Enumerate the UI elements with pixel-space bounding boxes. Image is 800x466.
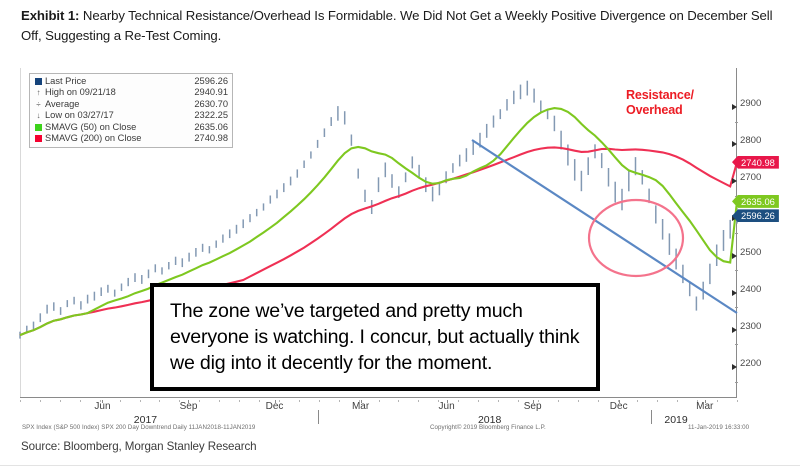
legend-value: 2940.91 bbox=[180, 87, 228, 98]
x-axis-minor-tick bbox=[339, 400, 340, 402]
x-axis-minor-tick bbox=[259, 400, 260, 402]
x-axis-minor-tick bbox=[379, 400, 380, 402]
source-line: Source: Bloomberg, Morgan Stanley Resear… bbox=[21, 440, 257, 453]
x-axis-minor-tick bbox=[299, 400, 300, 402]
x-axis-minor-tick bbox=[438, 400, 439, 402]
legend-label: Last Price bbox=[45, 76, 180, 87]
legend-value: 2322.25 bbox=[180, 110, 228, 121]
x-axis-year-label: 2018 bbox=[478, 414, 501, 426]
x-axis-minor-tick bbox=[418, 400, 419, 402]
x-axis-minor-tick bbox=[179, 400, 180, 402]
legend-row: ↑ High on 09/21/18 2940.91 bbox=[32, 87, 228, 98]
x-axis-year-label: 2019 bbox=[664, 414, 687, 426]
x-axis-month-label: Dec bbox=[610, 401, 628, 412]
legend-label: High on 09/21/18 bbox=[45, 87, 180, 98]
x-axis-minor-tick bbox=[60, 400, 61, 402]
x-axis-month-label: Mar bbox=[696, 401, 713, 412]
x-axis-month-label: Mar bbox=[352, 401, 369, 412]
resistance-annotation: Resistance/ Overhead bbox=[626, 88, 694, 118]
x-axis-minor-tick bbox=[618, 400, 619, 402]
last-price-flag: 2596.26 bbox=[732, 209, 779, 222]
x-axis-minor-tick bbox=[458, 400, 459, 402]
legend-row: Last Price 2596.26 bbox=[32, 76, 228, 87]
up-arrow-icon: ↑ bbox=[32, 87, 45, 98]
legend-row: SMAVG (200) on Close 2740.98 bbox=[32, 133, 228, 144]
y-axis-minor-tick bbox=[735, 382, 738, 383]
x-axis-minor-tick bbox=[40, 400, 41, 402]
legend-row: ÷ Average 2630.70 bbox=[32, 99, 228, 110]
sma50-flag: 2635.06 bbox=[732, 195, 779, 208]
callout-text: The zone we’ve targeted and pretty much … bbox=[154, 298, 596, 376]
x-axis-minor-tick bbox=[319, 400, 320, 402]
x-axis-minor-tick bbox=[279, 400, 280, 402]
x-axis-minor-tick bbox=[239, 400, 240, 402]
page-title: Exhibit 1: Nearby Technical Resistance/O… bbox=[21, 6, 781, 45]
x-axis-minor-tick bbox=[637, 400, 638, 402]
legend-label: Low on 03/27/17 bbox=[45, 110, 180, 121]
legend-label: SMAVG (200) on Close bbox=[45, 133, 180, 144]
exhibit-root: Exhibit 1: Nearby Technical Resistance/O… bbox=[0, 0, 800, 466]
x-axis-year-label: 2017 bbox=[134, 414, 157, 426]
x-axis-minor-tick bbox=[80, 400, 81, 402]
x-axis-month-label: Jun bbox=[94, 401, 110, 412]
legend-swatch-icon bbox=[32, 135, 45, 142]
x-axis-minor-tick bbox=[478, 400, 479, 402]
x-axis-minor-tick bbox=[498, 400, 499, 402]
x-axis-minor-tick bbox=[598, 400, 599, 402]
x-axis-minor-tick bbox=[558, 400, 559, 402]
x-axis-minor-tick bbox=[219, 400, 220, 402]
resistance-line-1: Resistance/ bbox=[626, 88, 694, 103]
x-axis-minor-tick bbox=[100, 400, 101, 402]
legend-value: 2596.26 bbox=[180, 76, 228, 87]
x-axis-minor-tick bbox=[120, 400, 121, 402]
x-axis-minor-tick bbox=[677, 400, 678, 402]
chart-legend: Last Price 2596.26 ↑ High on 09/21/18 29… bbox=[29, 73, 233, 148]
x-axis-month-label: Sep bbox=[180, 401, 198, 412]
average-icon: ÷ bbox=[32, 99, 45, 110]
x-axis-minor-tick bbox=[159, 400, 160, 402]
legend-value: 2635.06 bbox=[180, 122, 228, 133]
x-axis: JunSepDecMarJunSepDecMar201720182019 bbox=[20, 398, 737, 438]
y-axis-minor-tick bbox=[735, 307, 738, 308]
sma200-flag: 2740.98 bbox=[732, 156, 779, 169]
x-axis-minor-tick bbox=[20, 400, 21, 402]
x-axis-minor-tick bbox=[518, 400, 519, 402]
y-axis: 220023002400250026002700280029002740.982… bbox=[737, 68, 800, 408]
legend-swatch-icon bbox=[32, 124, 45, 131]
year-separator bbox=[651, 410, 652, 424]
legend-value: 2740.98 bbox=[180, 133, 228, 144]
down-arrow-icon: ↓ bbox=[32, 110, 45, 121]
legend-label: SMAVG (50) on Close bbox=[45, 122, 180, 133]
x-axis-minor-tick bbox=[717, 400, 718, 402]
x-axis-month-label: Dec bbox=[266, 401, 284, 412]
y-axis-minor-tick bbox=[735, 122, 738, 123]
x-axis-minor-tick bbox=[140, 400, 141, 402]
x-axis-month-label: Jun bbox=[439, 401, 455, 412]
exhibit-title-text: Nearby Technical Resistance/Overhead Is … bbox=[21, 8, 772, 43]
x-axis-minor-tick bbox=[578, 400, 579, 402]
x-axis-minor-tick bbox=[359, 400, 360, 402]
y-axis-minor-tick bbox=[735, 270, 738, 271]
legend-row: SMAVG (50) on Close 2635.06 bbox=[32, 122, 228, 133]
resistance-line-2: Overhead bbox=[626, 103, 694, 118]
x-axis-minor-tick bbox=[398, 400, 399, 402]
y-axis-minor-tick bbox=[735, 344, 738, 345]
x-axis-month-label: Sep bbox=[524, 401, 542, 412]
y-axis-minor-tick bbox=[735, 233, 738, 234]
legend-value: 2630.70 bbox=[180, 99, 228, 110]
x-axis-minor-tick bbox=[657, 400, 658, 402]
legend-label: Average bbox=[45, 99, 180, 110]
legend-swatch-icon bbox=[32, 78, 45, 85]
x-axis-minor-tick bbox=[538, 400, 539, 402]
exhibit-label: Exhibit 1: bbox=[21, 8, 79, 23]
x-axis-minor-tick bbox=[697, 400, 698, 402]
x-axis-minor-tick bbox=[199, 400, 200, 402]
legend-row: ↓ Low on 03/27/17 2322.25 bbox=[32, 110, 228, 121]
callout-box: The zone we’ve targeted and pretty much … bbox=[150, 283, 600, 391]
year-separator bbox=[318, 410, 319, 424]
